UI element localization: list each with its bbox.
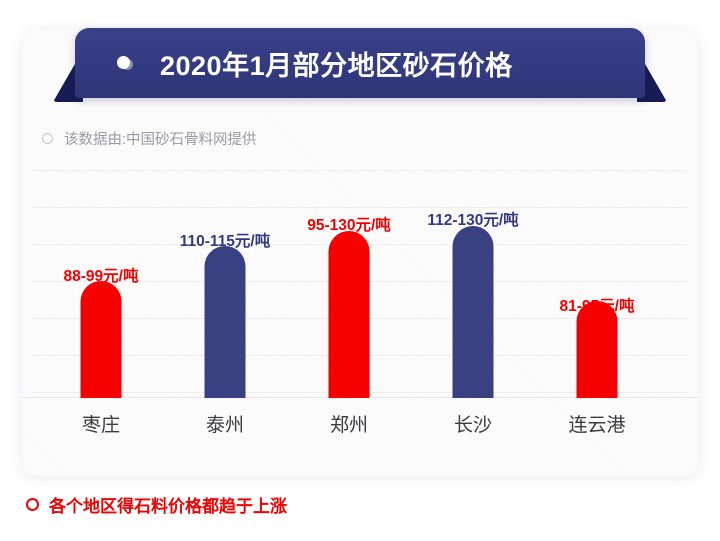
bar-series: 88-99元/吨110-115元/吨95-130元/吨112-130元/吨81-… — [22, 180, 698, 398]
category-label: 长沙 — [411, 410, 535, 437]
category-label: 枣庄 — [39, 410, 163, 437]
bar-group: 81-95元/吨 — [535, 180, 659, 398]
bar-group: 110-115元/吨 — [163, 180, 287, 398]
bar-value-label: 88-99元/吨 — [64, 264, 139, 286]
bar-group: 88-99元/吨 — [39, 180, 163, 398]
circle-outline-icon — [42, 133, 53, 144]
bar-value-label: 81-95元/吨 — [560, 294, 635, 316]
bar[interactable] — [205, 246, 246, 398]
source-note: 该数据由:中国砂石骨料网提供 — [42, 128, 257, 149]
gridline — [32, 170, 688, 171]
bar-group: 112-130元/吨 — [411, 180, 535, 398]
category-label: 连云港 — [535, 410, 659, 437]
footer-note-text: 各个地区得石料价格都趋于上涨 — [49, 492, 287, 517]
circle-dot-icon — [117, 56, 132, 71]
bar[interactable] — [81, 281, 122, 398]
title-banner: 2020年1月部分地区砂石价格 — [75, 28, 645, 98]
circle-outline-icon — [26, 498, 39, 511]
category-axis: 枣庄泰州郑州长沙连云港 — [22, 410, 698, 444]
bar[interactable] — [453, 226, 494, 398]
bar-value-label: 110-115元/吨 — [180, 229, 270, 251]
source-note-text: 该数据由:中国砂石骨料网提供 — [64, 128, 257, 149]
bar-value-label: 112-130元/吨 — [427, 208, 518, 230]
footer-note: 各个地区得石料价格都趋于上涨 — [26, 492, 287, 517]
category-label: 郑州 — [287, 410, 411, 437]
category-label: 泰州 — [163, 410, 287, 437]
bar-value-label: 95-130元/吨 — [307, 213, 391, 235]
bar-group: 95-130元/吨 — [287, 180, 411, 398]
page-title: 2020年1月部分地区砂石价格 — [160, 44, 513, 83]
banner-bar: 2020年1月部分地区砂石价格 — [75, 28, 645, 98]
bar[interactable] — [329, 231, 370, 398]
